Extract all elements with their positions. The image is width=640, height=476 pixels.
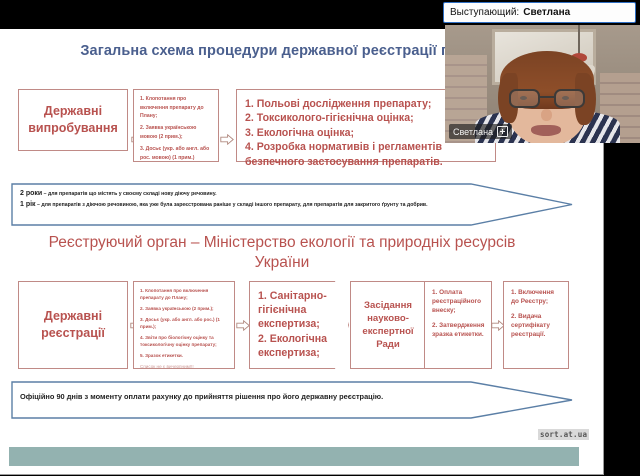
list-item: 2. Заявка українською (2 прим.); [140,305,229,312]
scientific-council-box: Засідання науково-експертної Ради [350,281,426,369]
participant-name-chip[interactable]: Светлана [449,124,512,139]
person-mouth [531,125,561,136]
list-item: 2. Затвердження зразка етикетки. [432,321,486,339]
lamp-cord [578,25,580,55]
documents-box-state-registration: 1. Клопотання про включення препарату до… [133,281,235,369]
list-item: 3. Досьє (укр. або англ. або рос. мовою)… [140,145,213,162]
scientific-council-label: Засідання науково-експертної Ради [351,299,425,351]
person-nose [541,109,552,121]
list-item: 1. Оплата реєстраційного внеску; [432,288,486,315]
payment-box: 1. Оплата реєстраційного внеску; 2. Затв… [424,281,492,369]
banner-line-2-rest: – для препаратів з діючою речовиною, яка… [36,202,428,208]
list-item: 3. Досьє (укр. або англ. або рос.) (1 пр… [140,316,229,330]
list-item: 1. Клопотання про включення препарату до… [140,95,213,121]
list-item: 1. Санітарно-гігієнічна експертиза; [258,289,342,332]
stage-box-state-registration-label: Державні реєстрації [41,308,105,342]
glasses-lens-left [509,89,540,108]
banner-line-1: 2 роки – для препаратів що містять у сво… [20,189,449,200]
banner-line-1-rest: – для препаратів що містять у своєму скл… [42,191,216,197]
video-panel: Выступающий: Светлана [443,0,640,145]
participant-video-tile[interactable]: Светлана [445,25,640,143]
glasses-bridge [540,96,554,98]
stage-box-state-registration: Державні реєстрації [18,281,128,369]
list-item: 2. Заявка українською мовою (2 прим.); [140,124,213,141]
active-speaker-name: Светлана [523,7,570,18]
active-speaker-label: Выступающий: [450,7,519,18]
banner-line-2: 1 рік – для препаратів з діючою речовино… [20,200,449,211]
screen-share-window: Загальна схема процедури державної реєст… [0,0,640,476]
list-item: 1. Включення до Реєстру; [511,288,563,306]
section-title: Реєструючий орган – Міністерство екологі… [22,233,542,273]
list-item: 2. Видача сертифікату реєстрації. [511,312,563,339]
expand-icon[interactable] [497,126,508,137]
list-item: 1. Клопотання про включення препарату до… [140,287,229,301]
slide-footer-bar [9,447,579,466]
banner-line-1-lead: 2 роки [20,190,42,197]
official-term-banner-text: Офіційно 90 днів з моменту оплати рахунк… [20,392,449,402]
list-item: 2. Екологічна експертиза; [258,332,342,360]
active-speaker-bar[interactable]: Выступающий: Светлана [443,2,636,23]
expertise-box: 1. Санітарно-гігієнічна експертиза; 2. Е… [249,281,349,369]
glasses-lens-right [554,89,585,108]
timeline-banner-text: 2 роки – для препаратів що містять у сво… [20,189,449,210]
list-item: 4. Звіти про біологічну оцінку та токсик… [140,334,229,348]
official-term-banner: Офіційно 90 днів з моменту оплати рахунк… [11,381,573,419]
documents-box-state-testing: 1. Клопотання про включення препарату до… [133,89,219,162]
registry-box: 1. Включення до Реєстру; 2. Видача серти… [503,281,569,369]
arrow-right-icon-2 [220,134,234,145]
participant-name-label: Светлана [453,127,493,137]
timeline-banner-terms: 2 роки – для препаратів що містять у сво… [11,183,573,226]
banner-line-2-lead: 1 рік [20,201,36,208]
documents-box-note: Список не є вичерпним!!! [140,363,229,369]
glasses-icon [509,89,585,108]
list-item: 5. Зразок етикетки. [140,352,229,359]
arrow-right-icon-4 [236,320,250,331]
stage-box-state-testing: Державні випробування [18,89,128,151]
watermark: sort.at.ua [538,429,589,440]
stage-box-state-testing-label: Державні випробування [28,103,118,137]
